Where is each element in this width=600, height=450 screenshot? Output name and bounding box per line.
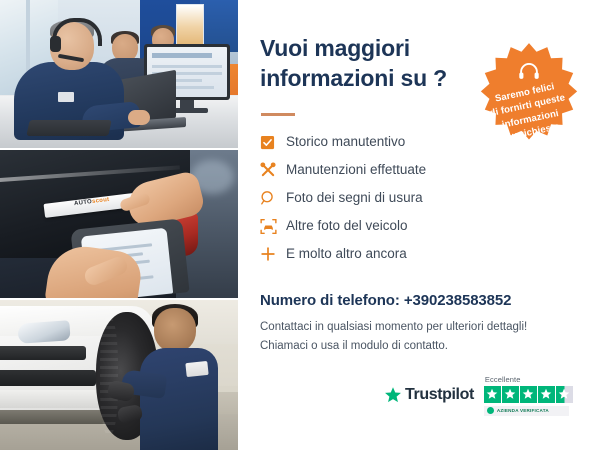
trustpilot-rating-label: Eccellente [485, 375, 521, 384]
vehicle-inspection-photo: AUTOscout [0, 150, 238, 298]
car-photo-frame-icon [260, 218, 286, 235]
feature-label: Storico manutentivo [286, 135, 405, 149]
feature-label: Altre foto del veicolo [286, 219, 408, 233]
trustpilot-logo: Trustpilot [384, 386, 474, 404]
feature-label: E molto altro ancora [286, 247, 407, 261]
trustpilot-star-icon [384, 386, 402, 404]
feature-item-manutenzioni-effettuate: Manutenzioni effettuate [260, 156, 550, 184]
checklist-icon [260, 135, 286, 150]
star-filled-icon [484, 386, 501, 403]
content-panel: Vuoi maggiori informazioni su ? Saremo f… [238, 0, 600, 450]
page-title: Vuoi maggiori informazioni su ? [260, 34, 470, 94]
trustpilot-rating: Eccellente [484, 375, 573, 416]
headline-line-1: Vuoi maggiori [260, 34, 470, 64]
title-underline-rule [261, 113, 295, 116]
trustpilot-widget[interactable]: Trustpilot Eccellente [384, 370, 584, 420]
feature-item-altre-foto-veicolo: Altre foto del veicolo [260, 212, 550, 240]
star-filled-icon [538, 386, 555, 403]
feature-item-molto-altro: E molto altro ancora [260, 240, 550, 268]
star-half-icon [556, 386, 573, 403]
trustpilot-wordmark: Trustpilot [405, 386, 474, 404]
workshop-mechanic-photo [0, 300, 238, 450]
plus-icon [260, 246, 286, 262]
verified-business-badge: AZIENDA VERIFICATA [484, 406, 569, 416]
feature-item-foto-segni-usura: Foto dei segni di usura [260, 184, 550, 212]
feature-item-storico-manutentivo: Storico manutentivo [260, 128, 550, 156]
contact-description: Contattaci in qualsiasi momento per ulte… [260, 318, 580, 355]
feature-label: Manutenzioni effettuate [286, 163, 426, 177]
feature-list: Storico manutentivo Manutenzioni effettu… [260, 128, 550, 268]
trustpilot-stars [484, 386, 573, 403]
crossed-tools-icon [260, 162, 286, 178]
feature-label: Foto dei segni di usura [286, 191, 423, 205]
headset-icon [518, 62, 540, 80]
headline-line-2: informazioni su ? [260, 64, 470, 94]
contact-description-line-2: Chiamaci o usa il modulo di contatto. [260, 337, 580, 356]
contact-description-line-1: Contattaci in qualsiasi momento per ulte… [260, 318, 580, 337]
star-filled-icon [520, 386, 537, 403]
verified-business-label: AZIENDA VERIFICATA [497, 408, 549, 413]
phone-number-label: Numero di telefono: +390238583852 [260, 292, 511, 309]
verified-check-icon [487, 407, 494, 414]
magnifier-icon [260, 190, 286, 206]
star-filled-icon [502, 386, 519, 403]
call-center-photo [0, 0, 238, 148]
photo-strip: AUTOscout [0, 0, 238, 450]
promo-banner: AUTOscout [0, 0, 600, 450]
